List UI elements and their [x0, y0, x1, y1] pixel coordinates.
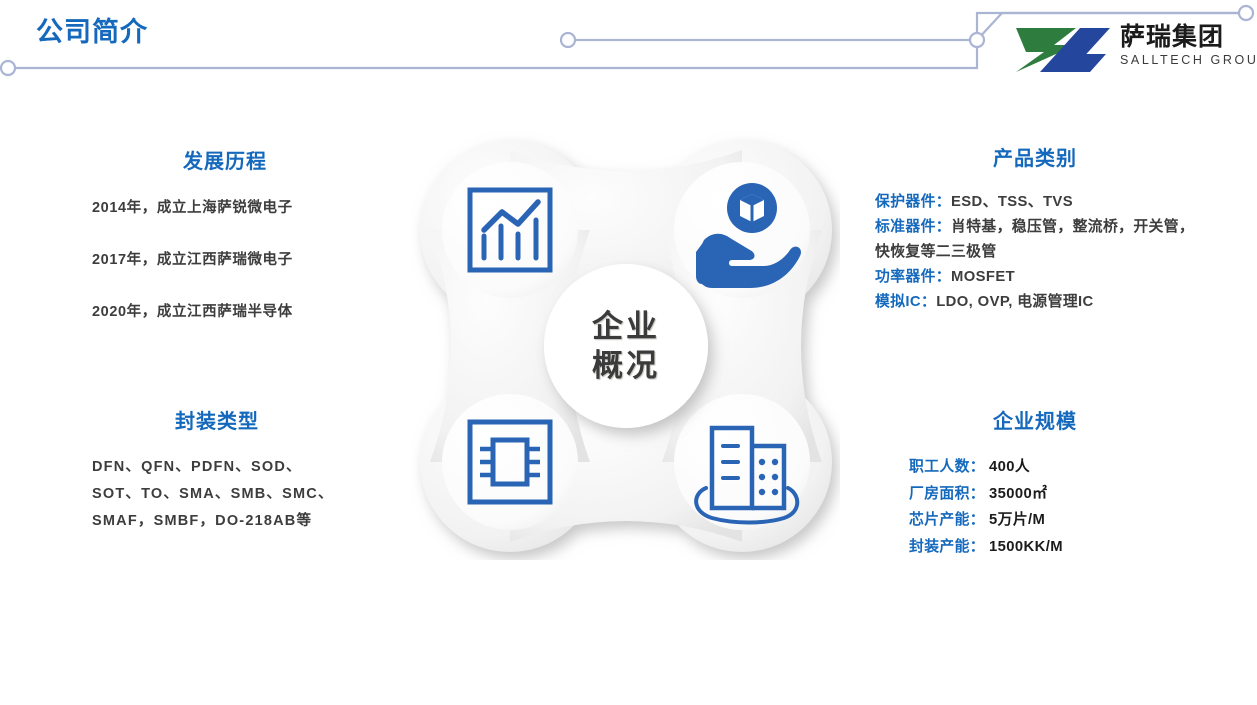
list-item: 标准器件：肖特基，稳压管，整流桥，开关管，快恢复等二三极管: [875, 215, 1195, 265]
scale-value: 35000㎡: [989, 486, 1047, 502]
product-label: 标准器件：: [875, 219, 951, 235]
block-product-categories: 产品类别 保护器件：ESD、TSS、TVS 标准器件：肖特基，稳压管，整流桥，开…: [875, 142, 1195, 315]
list-item: 封装产能：1500KK/M: [909, 534, 1195, 561]
block-development-history: 发展历程 2014年，成立上海萨锐微电子 2017年，成立江西萨瑞微电子 202…: [92, 145, 358, 352]
list-item: 模拟IC：LDO, OVP, 电源管理IC: [875, 290, 1195, 315]
scale-value: 400人: [989, 459, 1030, 475]
products-list: 保护器件：ESD、TSS、TVS 标准器件：肖特基，稳压管，整流桥，开关管，快恢…: [875, 190, 1195, 315]
product-value: MOSFET: [951, 269, 1015, 285]
products-title: 产品类别: [875, 142, 1195, 171]
center-diagram: 企业 概况: [412, 132, 840, 560]
list-item: 2014年，成立上海萨锐微电子: [92, 196, 358, 217]
list-item: 保护器件：ESD、TSS、TVS: [875, 190, 1195, 215]
node-circle-top-left: [442, 162, 578, 298]
scale-label: 职工人数：: [909, 459, 985, 475]
header-node-junction: [970, 33, 984, 47]
header-node-middle: [561, 33, 575, 47]
scale-label: 厂房面积：: [909, 486, 985, 502]
scale-label: 封装产能：: [909, 539, 985, 555]
product-value: ESD、TSS、TVS: [951, 194, 1073, 210]
logo-text-cn: 萨瑞集团: [1120, 23, 1244, 52]
product-label: 模拟IC：: [875, 294, 936, 310]
block-company-scale: 企业规模 职工人数：400人 厂房面积：35000㎡ 芯片产能：5万片/M 封装…: [875, 405, 1195, 560]
history-list: 2014年，成立上海萨锐微电子 2017年，成立江西萨瑞微电子 2020年，成立…: [92, 196, 358, 321]
history-title: 发展历程: [92, 145, 358, 174]
packages-body: DFN、QFN、PDFN、SOD、SOT、TO、SMA、SMB、SMC、SMAF…: [92, 454, 335, 535]
scale-value: 1500KK/M: [989, 539, 1063, 555]
list-item: 2020年，成立江西萨瑞半导体: [92, 300, 358, 321]
scale-title: 企业规模: [875, 405, 1195, 434]
logo-text-en: SALLTECH GROUP: [1120, 53, 1244, 68]
header-node-left: [1, 61, 15, 75]
scale-label: 芯片产能：: [909, 512, 985, 528]
list-item: 芯片产能：5万片/M: [909, 507, 1195, 534]
list-item: 2017年，成立江西萨瑞微电子: [92, 248, 358, 269]
packages-title: 封装类型: [92, 405, 342, 434]
company-logo: 萨瑞集团 SALLTECH GROUP: [1014, 23, 1242, 75]
scale-value: 5万片/M: [989, 512, 1045, 528]
slide-canvas: 公司简介 萨瑞集团 SALLTECH GROUP 发展历程 2014年，成立上海…: [0, 0, 1257, 705]
product-label: 功率器件：: [875, 269, 951, 285]
product-label: 保护器件：: [875, 194, 951, 210]
list-item: 厂房面积：35000㎡: [909, 481, 1195, 508]
scale-list: 职工人数：400人 厂房面积：35000㎡ 芯片产能：5万片/M 封装产能：15…: [875, 454, 1195, 560]
logo-mark-icon: [1014, 25, 1114, 75]
list-item: 功率器件：MOSFET: [875, 265, 1195, 290]
list-item: 职工人数：400人: [909, 454, 1195, 481]
block-package-types: 封装类型 DFN、QFN、PDFN、SOD、SOT、TO、SMA、SMB、SMC…: [92, 405, 342, 535]
node-circle-bottom-left: [442, 394, 578, 530]
header-node-right: [1239, 6, 1253, 20]
page-title: 公司简介: [36, 10, 148, 49]
product-value: LDO, OVP, 电源管理IC: [936, 294, 1093, 310]
